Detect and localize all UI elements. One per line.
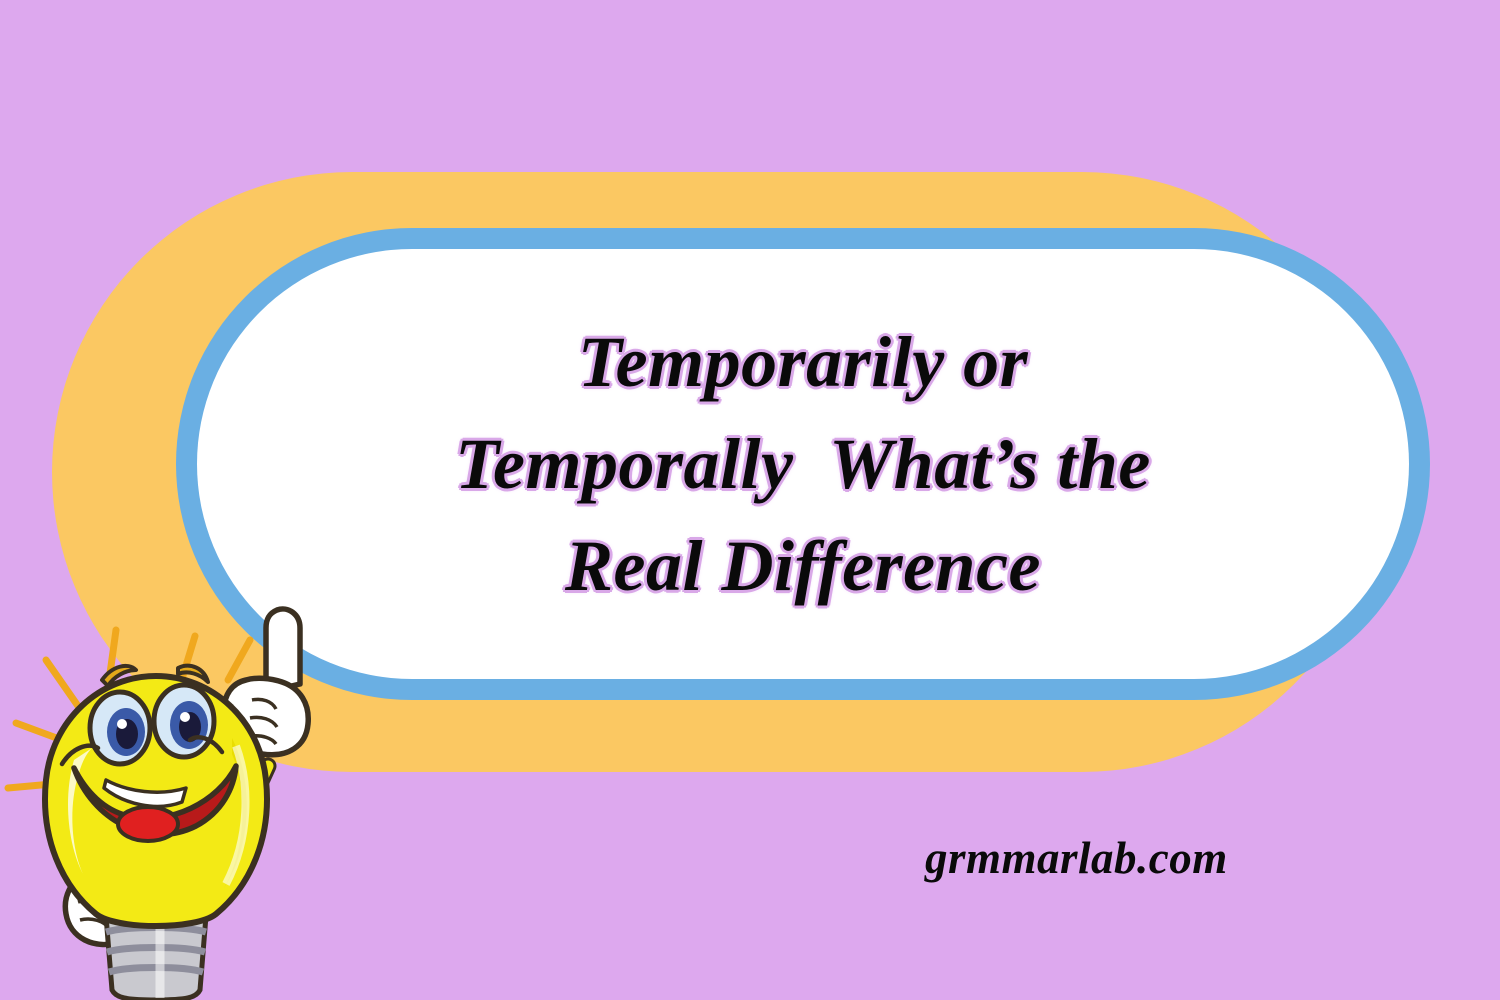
page-title: Temporarily or Temporally What’s the Rea… bbox=[176, 228, 1430, 700]
site-watermark: grmmarlab.com bbox=[925, 832, 1228, 884]
lightbulb-mascot bbox=[0, 588, 340, 1000]
title-line-2: Temporally What’s the bbox=[455, 413, 1151, 515]
title-line-1: Temporarily or bbox=[578, 311, 1028, 413]
title-line-3: Real Difference bbox=[565, 515, 1041, 617]
poster-canvas: Temporarily or Temporally What’s the Rea… bbox=[0, 0, 1500, 1000]
